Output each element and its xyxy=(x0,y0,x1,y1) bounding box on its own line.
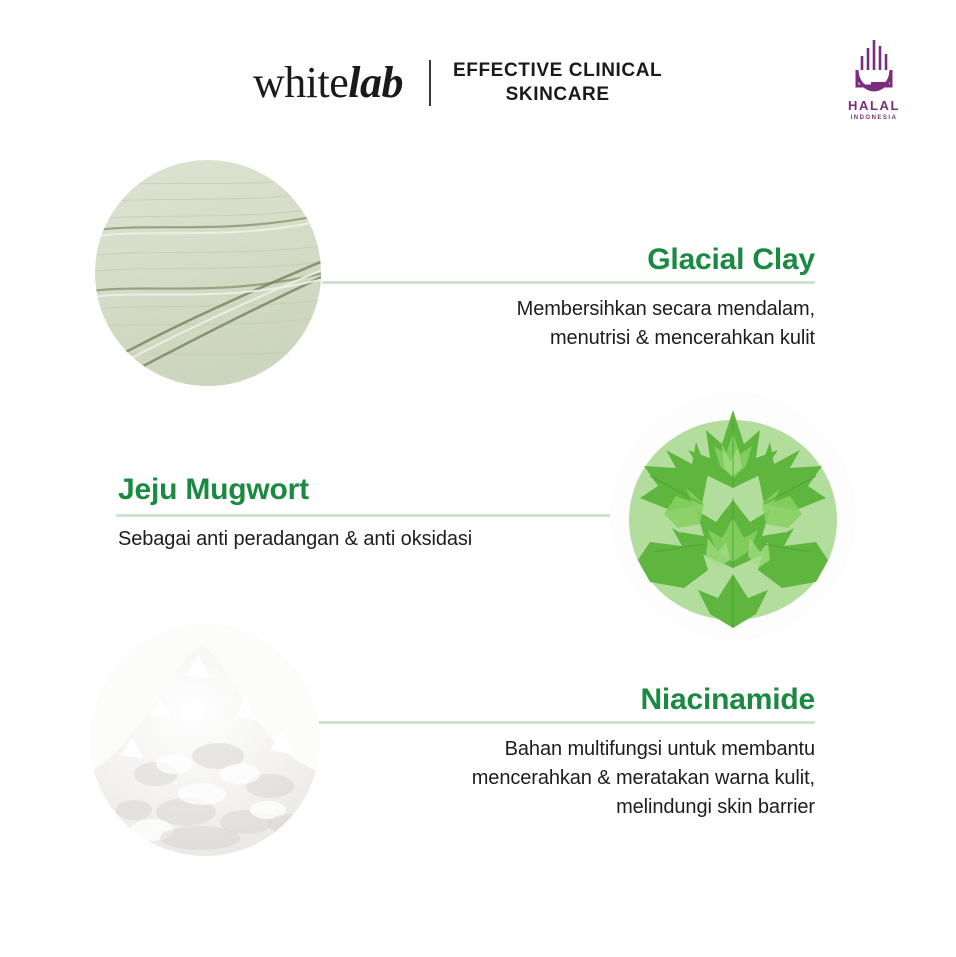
ingredient-block-niacinamide: Niacinamide Bahan multifungsi untuk memb… xyxy=(400,683,815,822)
ingredient-name-jeju-mugwort: Jeju Mugwort xyxy=(118,473,618,506)
ingredient-block-glacial-clay: Glacial Clay Membersihkan secara mendala… xyxy=(415,243,815,353)
description-line: menutrisi & mencerahkan kulit xyxy=(415,324,815,353)
brand-tagline: EFFECTIVE CLINICAL SKINCARE xyxy=(453,59,662,107)
tagline-line-1: EFFECTIVE CLINICAL xyxy=(453,59,662,83)
description-line: melindungi skin barrier xyxy=(400,793,815,822)
ingredient-name-glacial-clay: Glacial Clay xyxy=(415,243,815,276)
ingredient-description-niacinamide: Bahan multifungsi untuk membantu mencera… xyxy=(400,735,815,822)
ingredient-description-glacial-clay: Membersihkan secara mendalam, menutrisi … xyxy=(415,295,815,353)
niacinamide-image xyxy=(90,624,320,856)
powder-mound-illustration xyxy=(90,624,320,856)
brand-lockup: whitelab EFFECTIVE CLINICAL SKINCARE xyxy=(253,55,662,110)
glacial-clay-image xyxy=(95,160,321,386)
description-line: Sebagai anti peradangan & anti oksidasi xyxy=(118,525,618,554)
description-line: Bahan multifungsi untuk membantu xyxy=(400,735,815,764)
brand-logo: whitelab xyxy=(253,61,403,105)
description-line: mencerahkan & meratakan warna kulit, xyxy=(400,764,815,793)
brand-logo-white: white xyxy=(253,58,348,107)
clay-texture-illustration xyxy=(95,160,321,386)
halal-subtitle: INDONESIA xyxy=(851,115,898,121)
halal-logo-icon xyxy=(847,36,901,96)
brand-divider xyxy=(429,60,431,106)
ingredient-infographic: whitelab EFFECTIVE CLINICAL SKINCARE xyxy=(0,0,956,957)
mugwort-leaves-illustration xyxy=(610,392,856,640)
halal-certification-badge: HALAL INDONESIA xyxy=(836,36,912,132)
header: whitelab EFFECTIVE CLINICAL SKINCARE xyxy=(0,0,956,150)
ingredient-description-jeju-mugwort: Sebagai anti peradangan & anti oksidasi xyxy=(118,525,618,554)
description-line: Membersihkan secara mendalam, xyxy=(415,295,815,324)
jeju-mugwort-image xyxy=(610,392,856,640)
halal-title: HALAL xyxy=(848,99,900,112)
ingredient-name-niacinamide: Niacinamide xyxy=(400,683,815,716)
tagline-line-2: SKINCARE xyxy=(453,83,662,107)
ingredient-block-jeju-mugwort: Jeju Mugwort Sebagai anti peradangan & a… xyxy=(118,473,618,554)
brand-logo-lab: lab xyxy=(348,58,403,107)
